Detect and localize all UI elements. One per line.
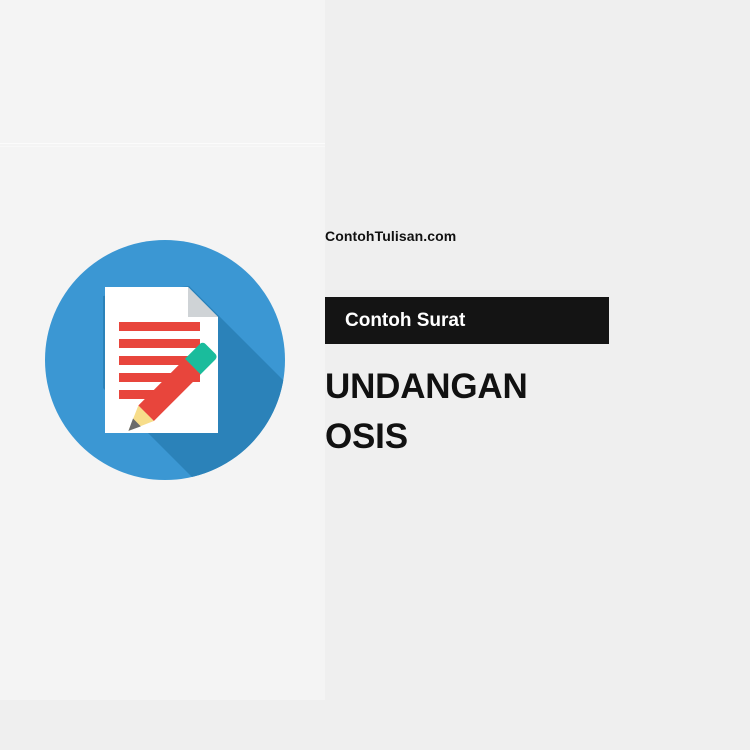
page-title: UNDANGAN OSIS bbox=[325, 362, 745, 462]
page-title-line-1: UNDANGAN bbox=[325, 362, 745, 412]
site-branding-label: ContohTulisan.com bbox=[325, 226, 456, 246]
page-title-line-2: OSIS bbox=[325, 412, 745, 462]
content-column: ContohTulisan.com Contoh Surat UNDANGAN … bbox=[325, 0, 750, 750]
poster-canvas: ContohTulisan.com Contoh Surat UNDANGAN … bbox=[0, 0, 750, 750]
category-banner-label: Contoh Surat bbox=[345, 309, 465, 333]
panel-divider-line-secondary bbox=[0, 146, 325, 147]
document-with-pencil-icon bbox=[45, 240, 285, 480]
panel-divider-line bbox=[0, 143, 325, 144]
category-banner: Contoh Surat bbox=[325, 297, 609, 344]
